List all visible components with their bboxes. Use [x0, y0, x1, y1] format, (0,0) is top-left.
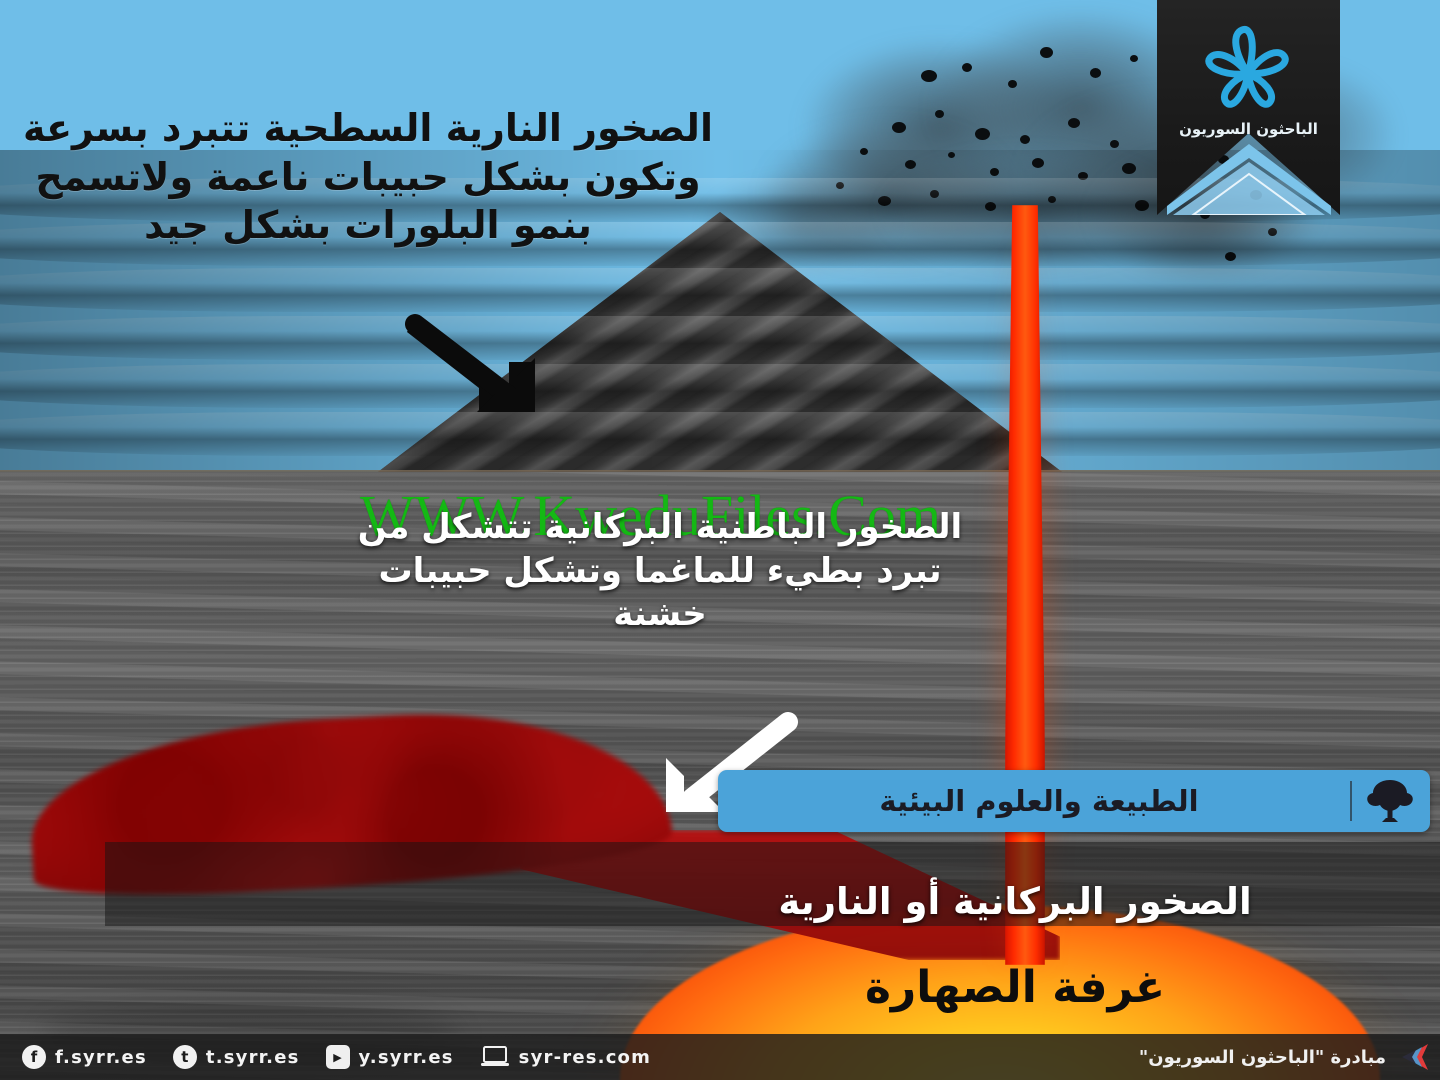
- footer-link-youtube[interactable]: ▶ y.syrr.es: [326, 1045, 454, 1069]
- category-banner[interactable]: الطبيعة والعلوم البيئية: [718, 770, 1430, 832]
- footer-link-label: syr-res.com: [519, 1047, 651, 1068]
- ash-particle: [935, 110, 944, 118]
- ash-particle: [1008, 80, 1017, 88]
- category-banner-label: الطبيعة والعلوم البيئية: [740, 784, 1338, 818]
- ash-particle: [892, 122, 906, 133]
- arrow-down-right-black-icon: [405, 312, 555, 420]
- banner-divider: [1350, 781, 1352, 821]
- tree-icon: [1364, 778, 1416, 824]
- twitter-icon: t: [173, 1045, 197, 1069]
- footer-link-label: f.syrr.es: [55, 1047, 147, 1068]
- footer-bar: f f.syrr.es t t.syrr.es ▶ y.syrr.es syr-…: [0, 1034, 1440, 1080]
- footer-credit-group: مبادرة "الباحثون السوريون": [1139, 1042, 1440, 1072]
- footer-link-facebook[interactable]: f f.syrr.es: [22, 1045, 147, 1069]
- footer-links: f f.syrr.es t t.syrr.es ▶ y.syrr.es syr-…: [0, 1045, 1139, 1069]
- footer-link-twitter[interactable]: t t.syrr.es: [173, 1045, 300, 1069]
- logo-name: الباحثون السوريون: [1157, 120, 1340, 138]
- ash-particle: [1020, 135, 1030, 144]
- youtube-icon: ▶: [326, 1045, 350, 1069]
- surface-rocks-annotation: الصخور النارية السطحية تتبرد بسرعة وتكون…: [18, 104, 718, 250]
- ash-particle: [975, 128, 990, 140]
- ash-particle: [921, 70, 937, 82]
- infographic-canvas: الصخور النارية السطحية تتبرد بسرعة وتكون…: [0, 0, 1440, 1080]
- footer-credit-text: مبادرة "الباحثون السوريون": [1139, 1047, 1386, 1068]
- footer-link-label: y.syrr.es: [359, 1047, 454, 1068]
- ash-particle: [1090, 68, 1101, 78]
- ash-particle: [1068, 118, 1080, 128]
- chevron-star-mark-icon: [1396, 1042, 1430, 1072]
- ash-particle: [1040, 47, 1053, 58]
- ash-particle: [1130, 55, 1138, 62]
- intrusive-rocks-annotation: الصخور الباطنية البركانية تتشكل من تبرد …: [330, 506, 990, 637]
- chevron-icon: [1165, 140, 1333, 215]
- facebook-icon: f: [22, 1045, 46, 1069]
- butterfly-loop-logo-icon: [1180, 18, 1316, 118]
- igneous-rocks-label: الصخور البركانية أو النارية: [600, 878, 1430, 925]
- magma-chamber-label: غرفة الصهارة: [600, 960, 1430, 1016]
- footer-link-website[interactable]: syr-res.com: [480, 1045, 651, 1069]
- footer-link-label: t.syrr.es: [206, 1047, 300, 1068]
- ash-particle: [962, 63, 972, 72]
- ash-particle: [1110, 140, 1119, 148]
- laptop-icon: [480, 1045, 510, 1069]
